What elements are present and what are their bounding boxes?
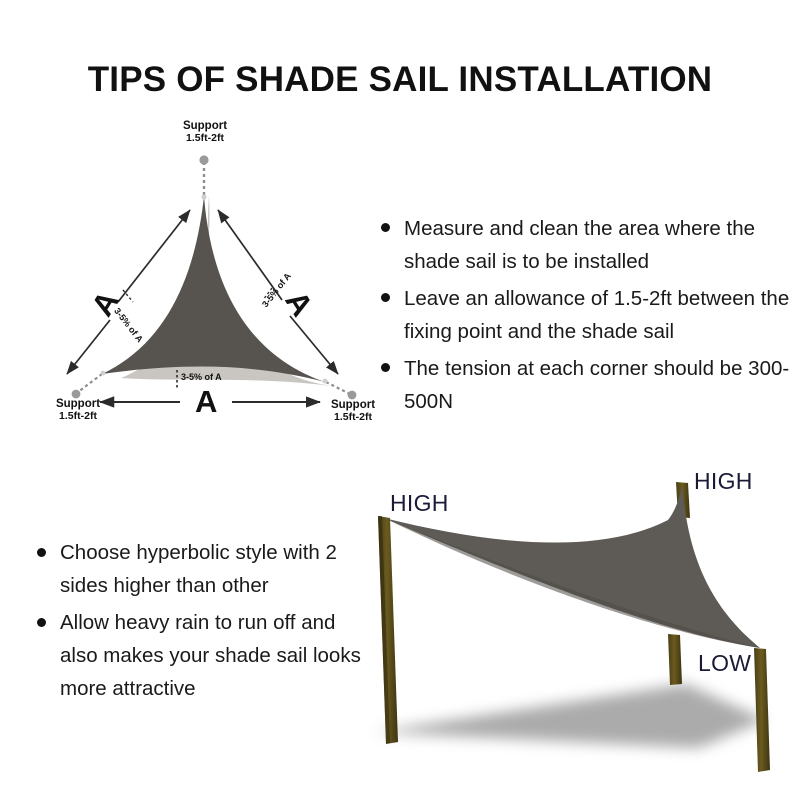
curve-depth-label-bottom: 3-5% of A bbox=[181, 372, 222, 382]
sail-style-bullet-list: Choose hyperbolic style with 2 sides hig… bbox=[34, 536, 364, 705]
post-back-middle bbox=[668, 634, 682, 685]
installation-tips-list: Measure and clean the area where the sha… bbox=[378, 212, 792, 422]
support-label-bottom-left-value: 1.5ft-2ft bbox=[33, 411, 123, 423]
support-leader-bottom-left bbox=[78, 374, 102, 392]
sail-style-text: Choose hyperbolic style with 2 sides hig… bbox=[60, 536, 364, 602]
sail-corner-node-bottom-left bbox=[101, 371, 106, 376]
list-item: Choose hyperbolic style with 2 sides hig… bbox=[34, 536, 364, 602]
sail-corner-node-top bbox=[201, 194, 206, 199]
list-item: The tension at each corner should be 300… bbox=[378, 352, 792, 418]
list-item: Allow heavy rain to run off and also mak… bbox=[34, 606, 364, 705]
support-label-top-value: 1.5ft-2ft bbox=[160, 133, 250, 145]
bullet-dot-icon bbox=[37, 548, 46, 557]
tip-text: The tension at each corner should be 300… bbox=[404, 352, 792, 418]
dimension-arrow-left-upper bbox=[118, 210, 190, 302]
bullet-dot-icon bbox=[381, 363, 390, 372]
support-node-top bbox=[199, 155, 208, 164]
hyperbolic-sail-illustration: HIGH HIGH LOW bbox=[368, 452, 800, 800]
triangle-shade-sail-diagram: Support 1.5ft-2ft Support 1.5ft-2ft Supp… bbox=[20, 120, 390, 440]
sail-style-text: Allow heavy rain to run off and also mak… bbox=[60, 606, 364, 705]
dimension-arrow-right-lower bbox=[290, 316, 338, 374]
sail-style-tips-list: Choose hyperbolic style with 2 sides hig… bbox=[34, 536, 364, 709]
tip-text: Leave an allowance of 1.5-2ft between th… bbox=[404, 282, 792, 348]
dimension-arrow-left-lower bbox=[67, 320, 110, 374]
corner-label-right-high: HIGH bbox=[694, 468, 753, 495]
support-label-bottom-left-name: Support bbox=[33, 398, 123, 411]
sail-fabric bbox=[102, 196, 325, 382]
corner-label-left-high: HIGH bbox=[390, 490, 449, 517]
support-label-bottom-left: Support 1.5ft-2ft bbox=[33, 398, 123, 423]
side-length-label-bottom: A bbox=[195, 386, 217, 417]
list-item: Measure and clean the area where the sha… bbox=[378, 212, 792, 278]
ground-shadow bbox=[374, 684, 766, 748]
corner-label-right-low: LOW bbox=[698, 650, 751, 677]
curve-depth-tick-left bbox=[123, 290, 133, 302]
page-title: TIPS OF SHADE SAIL INSTALLATION bbox=[0, 60, 800, 100]
list-item: Leave an allowance of 1.5-2ft between th… bbox=[378, 282, 792, 348]
support-label-top-name: Support bbox=[160, 120, 250, 133]
tip-text: Measure and clean the area where the sha… bbox=[404, 212, 792, 278]
bullet-dot-icon bbox=[37, 618, 46, 627]
bullet-dot-icon bbox=[381, 293, 390, 302]
support-leader-bottom-right bbox=[326, 382, 350, 394]
bullet-dot-icon bbox=[381, 223, 390, 232]
sail-corner-node-bottom-right bbox=[323, 379, 328, 384]
support-label-top: Support 1.5ft-2ft bbox=[160, 120, 250, 145]
post-front-right bbox=[754, 648, 770, 772]
tips-bullet-list: Measure and clean the area where the sha… bbox=[378, 212, 792, 418]
